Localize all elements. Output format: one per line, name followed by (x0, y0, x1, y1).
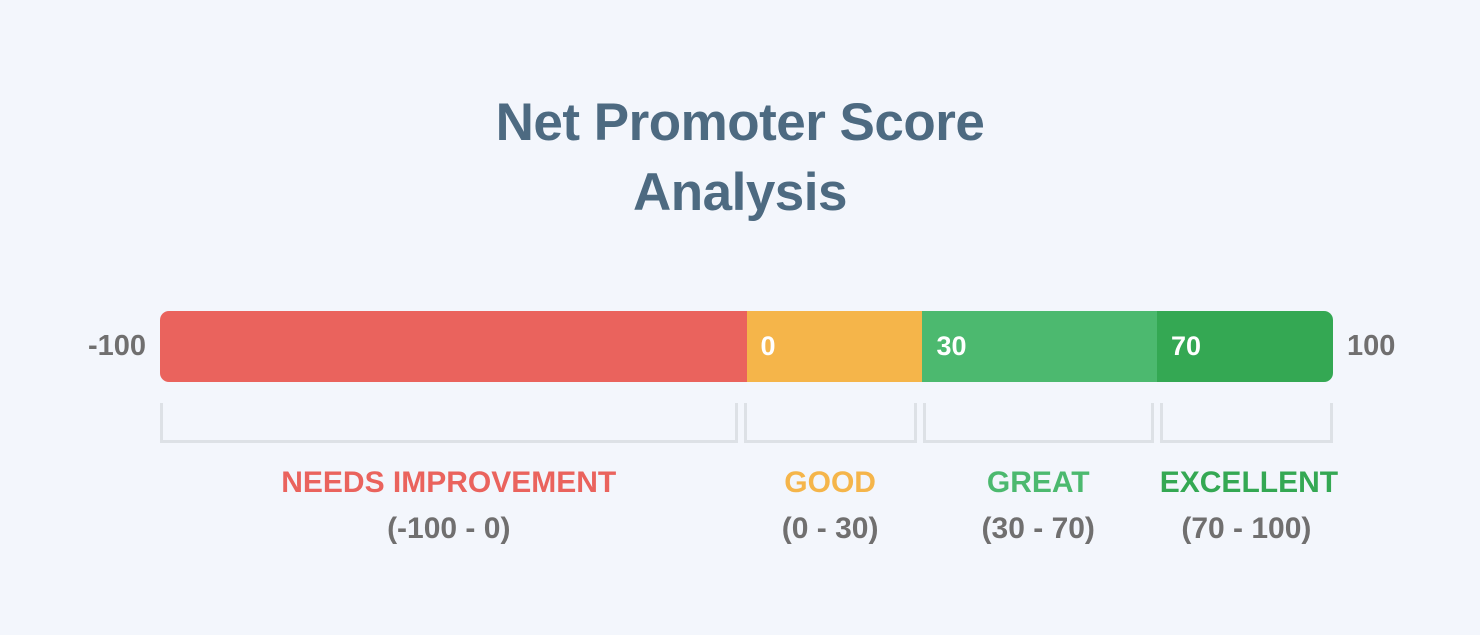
nps-scale-bar: 03070 (160, 311, 1333, 382)
segment-bracket (923, 403, 1154, 443)
page-title-line-2: Analysis (0, 158, 1480, 228)
segment-boundary-value: 30 (936, 311, 966, 382)
scale-segment-needs-improvement (160, 311, 747, 382)
segment-caption: GOOD(0 - 30) (744, 460, 917, 560)
segment-caption-range: (30 - 70) (923, 506, 1154, 552)
scale-segment-great: 30 (922, 311, 1157, 382)
segment-caption-name: GOOD (744, 460, 917, 506)
segment-boundary-value: 70 (1171, 311, 1201, 382)
axis-min-label: -100 (0, 311, 146, 382)
segment-caption-name: GREAT (923, 460, 1154, 506)
segment-bracket-row (160, 403, 1333, 443)
axis-max-label: 100 (1347, 311, 1467, 382)
segment-caption: GREAT(30 - 70) (923, 460, 1154, 560)
segment-caption-range: (-100 - 0) (160, 506, 738, 552)
nps-scale-row: -100 03070 100 (0, 311, 1480, 382)
segment-caption: NEEDS IMPROVEMENT(-100 - 0) (160, 460, 738, 560)
segment-boundary-value: 0 (761, 311, 776, 382)
segment-caption: EXCELLENT(70 - 100) (1160, 460, 1333, 560)
segment-bracket (160, 403, 738, 443)
segment-caption-name: EXCELLENT (1160, 460, 1333, 506)
segment-caption-range: (70 - 100) (1160, 506, 1333, 552)
segment-bracket (1160, 403, 1333, 443)
page-title-line-1: Net Promoter Score (0, 88, 1480, 158)
segment-bracket (744, 403, 917, 443)
segment-caption-name: NEEDS IMPROVEMENT (160, 460, 738, 506)
segment-caption-row: NEEDS IMPROVEMENT(-100 - 0)GOOD(0 - 30)G… (160, 460, 1333, 560)
page-title: Net Promoter Score Analysis (0, 88, 1480, 228)
scale-segment-excellent: 70 (1157, 311, 1333, 382)
segment-caption-range: (0 - 30) (744, 506, 917, 552)
scale-segment-good: 0 (747, 311, 923, 382)
